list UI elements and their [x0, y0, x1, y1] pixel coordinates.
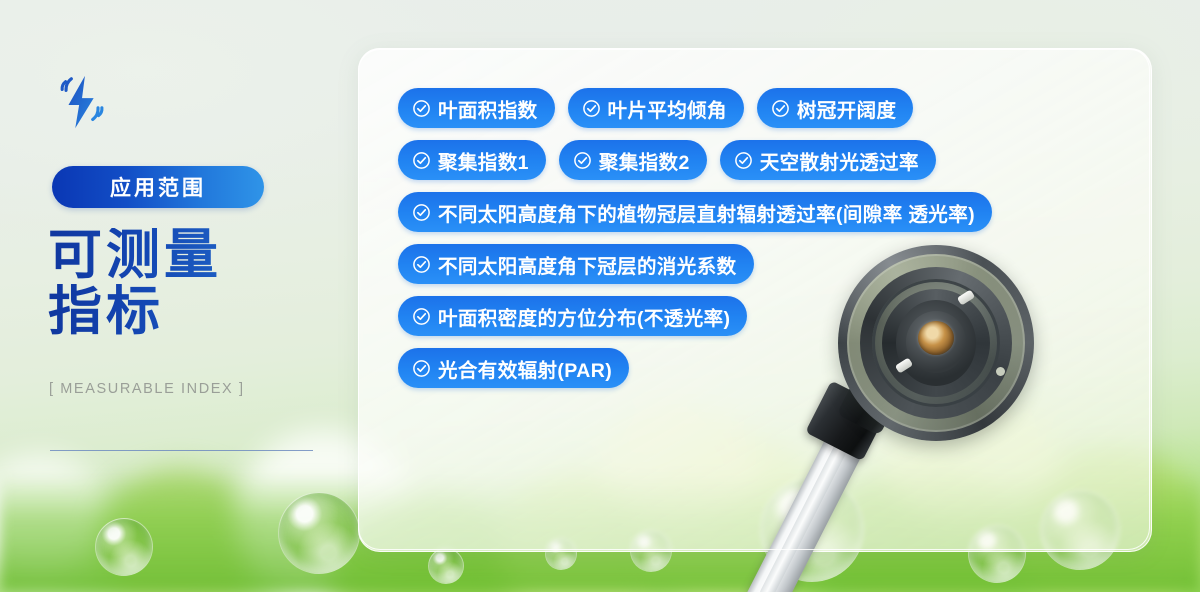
page-title-line-2: 指标: [48, 284, 328, 340]
index-row: 光合有效辐射(PAR): [398, 348, 1158, 388]
index-pill[interactable]: 不同太阳高度角下的植物冠层直射辐射透过率(间隙率 透光率): [398, 192, 992, 232]
index-row: 不同太阳高度角下的植物冠层直射辐射透过率(间隙率 透光率): [398, 192, 1158, 232]
index-pill[interactable]: 天空散射光透过率: [720, 140, 936, 180]
check-circle-icon: [412, 255, 431, 274]
index-pill-label: 不同太阳高度角下冠层的消光系数: [438, 250, 737, 279]
index-pill-label: 叶面积密度的方位分布(不透光率): [438, 302, 730, 331]
index-pill[interactable]: 聚集指数1: [398, 140, 546, 180]
index-pill-label: 天空散射光透过率: [760, 146, 919, 175]
left-panel: 应用范围 可测量 指标 [ MEASURABLE INDEX ]: [0, 0, 340, 592]
index-pill-label: 聚集指数1: [438, 146, 529, 175]
index-pill-label: 不同太阳高度角下的植物冠层直射辐射透过率(间隙率 透光率): [438, 198, 975, 227]
check-circle-icon: [412, 151, 431, 170]
index-pill[interactable]: 叶面积指数: [398, 88, 555, 128]
index-pill-label: 聚集指数2: [599, 146, 690, 175]
page-subtitle: [ MEASURABLE INDEX ]: [49, 381, 245, 397]
left-divider: [50, 450, 313, 451]
index-pill[interactable]: 树冠开阔度: [757, 88, 914, 128]
page-title-line-1: 可测量: [48, 228, 328, 284]
index-pill-label: 光合有效辐射(PAR): [438, 354, 612, 383]
index-pill-label: 叶面积指数: [438, 94, 538, 123]
check-circle-icon: [412, 203, 431, 222]
index-row: 聚集指数1聚集指数2天空散射光透过率: [398, 140, 1158, 180]
check-circle-icon: [582, 99, 601, 118]
index-row: 叶面积指数叶片平均倾角树冠开阔度: [398, 88, 1158, 128]
check-circle-icon: [412, 359, 431, 378]
index-pill[interactable]: 光合有效辐射(PAR): [398, 348, 629, 388]
index-pill[interactable]: 叶面积密度的方位分布(不透光率): [398, 296, 747, 336]
check-circle-icon: [734, 151, 753, 170]
measurable-index-list: 叶面积指数叶片平均倾角树冠开阔度聚集指数1聚集指数2天空散射光透过率不同太阳高度…: [398, 88, 1158, 400]
index-row: 叶面积密度的方位分布(不透光率): [398, 296, 1158, 336]
page-root: 应用范围 可测量 指标 [ MEASURABLE INDEX ]: [0, 0, 1200, 592]
scope-badge-label: 应用范围: [110, 172, 206, 202]
check-circle-icon: [771, 99, 790, 118]
check-circle-icon: [573, 151, 592, 170]
index-pill[interactable]: 聚集指数2: [559, 140, 707, 180]
check-circle-icon: [412, 99, 431, 118]
index-row: 不同太阳高度角下冠层的消光系数: [398, 244, 1158, 284]
lightning-signal-icon: [52, 72, 114, 134]
page-title: 可测量 指标: [48, 228, 328, 339]
index-pill-label: 树冠开阔度: [797, 94, 897, 123]
water-droplet: [428, 548, 464, 584]
check-circle-icon: [412, 307, 431, 326]
index-pill[interactable]: 叶片平均倾角: [568, 88, 744, 128]
index-pill-label: 叶片平均倾角: [608, 94, 727, 123]
index-pill[interactable]: 不同太阳高度角下冠层的消光系数: [398, 244, 754, 284]
scope-badge: 应用范围: [52, 166, 264, 208]
